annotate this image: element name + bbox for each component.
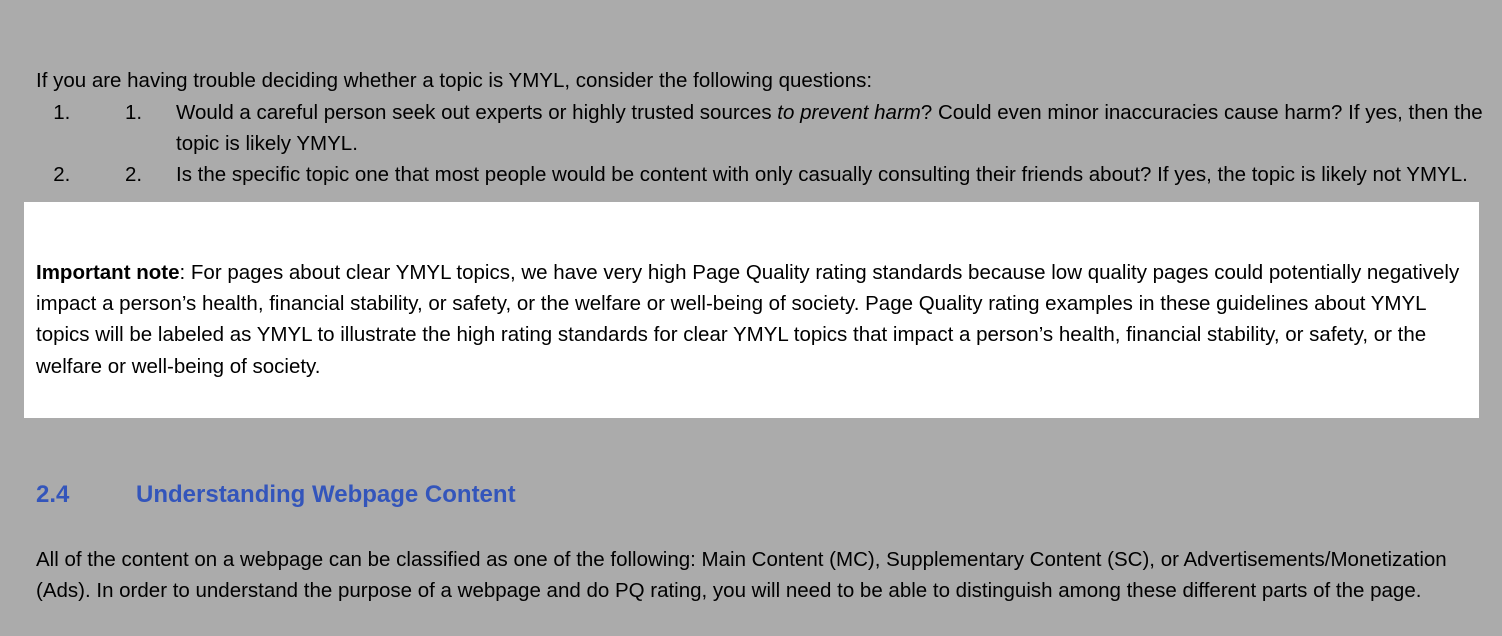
important-note-body: : For pages about clear YMYL topics, we …: [36, 261, 1459, 378]
list-item-emphasis: to prevent harm: [777, 101, 921, 124]
section-number: 2.4: [36, 481, 136, 509]
list-item-text-part1: Is the specific topic one that most peop…: [176, 163, 1468, 186]
list-item-text: Is the specific topic one that most peop…: [176, 159, 1502, 190]
list-item: 1. Would a careful person seek out exper…: [76, 97, 1502, 159]
list-item-number: 2.: [125, 159, 165, 190]
list-item-text-part1: Would a careful person seek out experts …: [176, 101, 777, 124]
list-item: 2. Is the specific topic one that most p…: [76, 159, 1502, 190]
important-note-text: Important note: For pages about clear YM…: [36, 257, 1476, 383]
important-note-callout: Important note: For pages about clear YM…: [24, 202, 1479, 418]
section-title: Understanding Webpage Content: [136, 481, 516, 509]
list-item-number: 1.: [125, 97, 165, 128]
important-note-label: Important note: [36, 261, 180, 284]
intro-paragraph: If you are having trouble deciding wheth…: [36, 65, 1466, 96]
document-page: If you are having trouble deciding wheth…: [0, 0, 1502, 636]
list-item-text: Would a careful person seek out experts …: [176, 97, 1502, 159]
section-heading: 2.4Understanding Webpage Content: [36, 481, 516, 509]
ymyl-question-list: 1. Would a careful person seek out exper…: [36, 97, 1502, 190]
closing-paragraph: All of the content on a webpage can be c…: [36, 544, 1456, 607]
